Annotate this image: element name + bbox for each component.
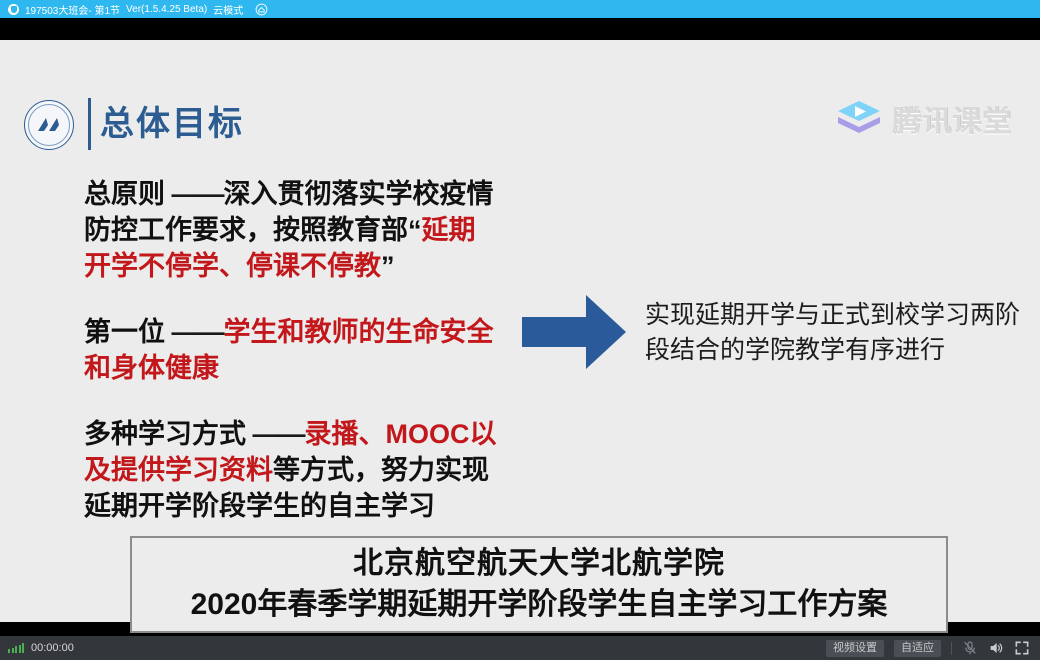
paragraph-1-dash: ——: [165, 179, 224, 209]
paragraph-2: 第一位 ——学生和教师的生命安全和身体健康: [84, 314, 499, 386]
paragraph-1-lead: 总原则: [84, 179, 165, 209]
mode-label: 云模式: [213, 2, 243, 17]
window-title: 197503大班会- 第1节: [25, 2, 120, 17]
paragraph-1-seg-3: ”: [381, 251, 395, 281]
header-divider: [88, 98, 91, 150]
control-divider: [951, 642, 952, 655]
app-icon: [8, 4, 19, 15]
speaker-on-icon[interactable]: [988, 640, 1004, 656]
slide-canvas: 总体目标 腾讯课堂 总原则 ——深入贯彻落实学校疫情防控工作要求，按照教育部“延…: [0, 40, 1040, 622]
tencent-classroom-window: 197503大班会- 第1节 Ver(1.5.4.25 Beta) 云模式 总体…: [0, 0, 1040, 660]
page-title: 总体目标: [100, 100, 244, 148]
tencent-classroom-logo-icon: [836, 99, 882, 139]
right-arrow-icon: [520, 293, 628, 371]
bottom-title-box: 北京航空航天大学北航学院 2020年春季学期延期开学阶段学生自主学习工作方案: [130, 536, 948, 633]
control-bar-left: 00:00:00: [0, 642, 74, 654]
player-control-bar: 00:00:00 视频设置 自适应: [0, 636, 1040, 660]
paragraph-1: 总原则 ——深入贯彻落实学校疫情防控工作要求，按照教育部“延期开学不停学、停课不…: [84, 176, 499, 284]
tencent-classroom-brand: 腾讯课堂: [836, 98, 1012, 140]
video-settings-button[interactable]: 视频设置: [826, 640, 884, 657]
slide-body: 总原则 ——深入贯彻落实学校疫情防控工作要求，按照教育部“延期开学不停学、停课不…: [84, 176, 499, 524]
session-timer: 00:00:00: [31, 642, 74, 654]
paragraph-2-lead: 第一位: [84, 317, 165, 347]
resolution-button[interactable]: 自适应: [894, 640, 941, 657]
callout-text: 实现延期开学与正式到校学习两阶段结合的学院教学有序进行: [645, 298, 1025, 368]
buaa-seal-icon: [24, 100, 74, 150]
bottom-title-line-1: 北京航空航天大学北航学院: [353, 544, 725, 584]
video-stage[interactable]: 总体目标 腾讯课堂 总原则 ——深入贯彻落实学校疫情防控工作要求，按照教育部“延…: [0, 18, 1040, 636]
bottom-title-line-2: 2020年春季学期延期开学阶段学生自主学习工作方案: [191, 584, 888, 626]
fullscreen-icon[interactable]: [1014, 640, 1030, 656]
paragraph-2-dash: ——: [165, 317, 224, 347]
microphone-muted-icon[interactable]: [962, 640, 978, 656]
brand-text: 腾讯课堂: [892, 98, 1012, 140]
paragraph-3: 多种学习方式 ——录播、MOOC以及提供学习资料等方式，努力实现延期开学阶段学生…: [84, 416, 499, 524]
title-bar: 197503大班会- 第1节 Ver(1.5.4.25 Beta) 云模式: [0, 0, 1040, 18]
app-version: Ver(1.5.4.25 Beta): [126, 4, 207, 15]
paragraph-3-lead: 多种学习方式: [84, 419, 246, 449]
control-bar-right: 视频设置 自适应: [826, 640, 1040, 657]
signal-strength-icon: [8, 643, 24, 653]
paragraph-3-dash: ——: [246, 419, 305, 449]
home-icon[interactable]: [255, 3, 268, 16]
